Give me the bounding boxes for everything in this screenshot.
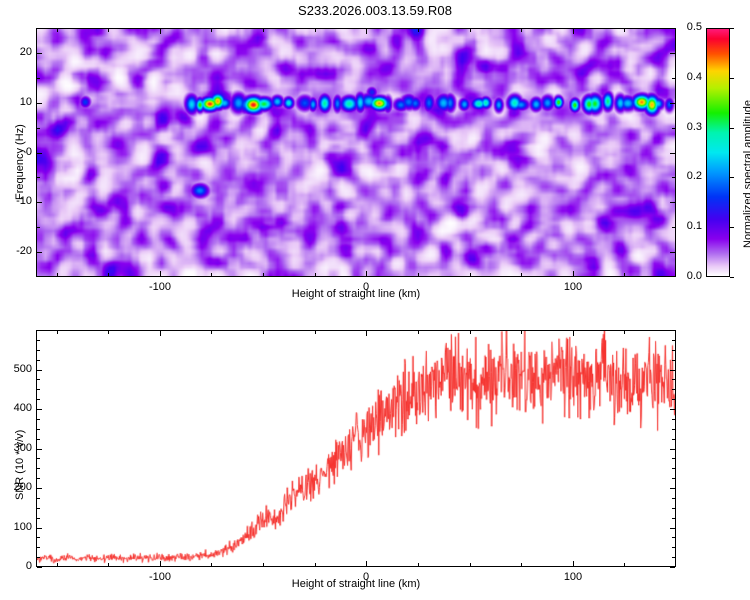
axis-tick bbox=[37, 379, 40, 380]
axis-tick-label: 10 bbox=[2, 96, 32, 108]
spectrogram-xlabel: Height of straight line (km) bbox=[36, 288, 676, 300]
axis-tick bbox=[672, 547, 675, 548]
axis-tick bbox=[37, 488, 42, 489]
axis-tick bbox=[37, 508, 40, 509]
axis-tick bbox=[670, 488, 675, 489]
axis-tick bbox=[418, 273, 419, 276]
axis-tick bbox=[672, 468, 675, 469]
axis-tick bbox=[470, 563, 471, 566]
axis-tick bbox=[263, 29, 264, 32]
axis-tick bbox=[672, 429, 675, 430]
axis-tick bbox=[37, 518, 40, 519]
axis-tick bbox=[160, 29, 161, 34]
axis-tick bbox=[108, 563, 109, 566]
axis-tick bbox=[366, 331, 367, 336]
axis-tick bbox=[37, 389, 40, 390]
axis-tick bbox=[521, 29, 522, 32]
axis-tick-label: 100 bbox=[2, 521, 32, 533]
axis-tick bbox=[315, 563, 316, 566]
axis-tick bbox=[211, 273, 212, 276]
axis-tick bbox=[672, 128, 675, 129]
axis-tick bbox=[37, 528, 42, 529]
axis-tick bbox=[37, 468, 40, 469]
axis-tick bbox=[670, 528, 675, 529]
axis-tick bbox=[37, 350, 40, 351]
axis-tick bbox=[670, 252, 675, 253]
axis-tick bbox=[160, 271, 161, 276]
spectrogram-panel bbox=[36, 28, 676, 277]
colorbar-tick bbox=[730, 277, 734, 278]
axis-tick bbox=[37, 557, 40, 558]
axis-tick bbox=[37, 458, 40, 459]
axis-tick bbox=[263, 563, 264, 566]
axis-tick bbox=[37, 78, 40, 79]
axis-tick bbox=[672, 478, 675, 479]
axis-tick bbox=[521, 273, 522, 276]
axis-tick bbox=[263, 331, 264, 334]
axis-tick bbox=[418, 331, 419, 334]
axis-tick bbox=[470, 273, 471, 276]
axis-tick bbox=[211, 331, 212, 334]
axis-tick bbox=[672, 518, 675, 519]
axis-tick bbox=[672, 78, 675, 79]
snr-ylabel: SNR (10 * v/v) bbox=[14, 430, 26, 500]
axis-tick bbox=[670, 567, 675, 568]
axis-tick bbox=[366, 561, 367, 566]
axis-tick bbox=[418, 563, 419, 566]
axis-tick bbox=[37, 537, 40, 538]
axis-tick bbox=[672, 389, 675, 390]
axis-tick bbox=[108, 273, 109, 276]
figure-canvas: S233.2026.003.13.59.R08 20100-10-20-1000… bbox=[0, 0, 750, 600]
axis-tick bbox=[470, 331, 471, 334]
axis-tick-label: 400 bbox=[2, 402, 32, 414]
axis-tick bbox=[672, 458, 675, 459]
axis-tick bbox=[366, 29, 367, 34]
axis-tick bbox=[670, 202, 675, 203]
axis-tick bbox=[672, 557, 675, 558]
axis-tick bbox=[108, 29, 109, 32]
axis-tick bbox=[37, 567, 42, 568]
colorbar-tick bbox=[730, 128, 734, 129]
axis-tick bbox=[521, 563, 522, 566]
axis-tick bbox=[672, 227, 675, 228]
axis-tick bbox=[470, 29, 471, 32]
colorbar-tick-label: 0.0 bbox=[680, 270, 702, 282]
colorbar-tick bbox=[730, 177, 734, 178]
axis-tick bbox=[37, 439, 40, 440]
axis-tick bbox=[108, 331, 109, 334]
axis-tick bbox=[37, 360, 40, 361]
axis-tick bbox=[57, 563, 58, 566]
colorbar-title: Normalized spectral amplitude bbox=[742, 100, 750, 248]
snr-xlabel: Height of straight line (km) bbox=[36, 578, 676, 590]
axis-tick bbox=[670, 153, 675, 154]
axis-tick bbox=[315, 273, 316, 276]
axis-tick bbox=[672, 508, 675, 509]
axis-tick bbox=[37, 153, 42, 154]
axis-tick bbox=[670, 103, 675, 104]
axis-tick bbox=[521, 331, 522, 334]
colorbar-tick-label: 0.1 bbox=[680, 220, 702, 232]
axis-tick bbox=[57, 29, 58, 32]
axis-tick bbox=[160, 331, 161, 336]
axis-tick bbox=[670, 449, 675, 450]
axis-tick bbox=[37, 53, 42, 54]
axis-tick bbox=[37, 252, 42, 253]
axis-tick-label: -20 bbox=[2, 245, 32, 257]
axis-tick bbox=[37, 399, 40, 400]
axis-tick bbox=[211, 563, 212, 566]
axis-tick bbox=[573, 271, 574, 276]
axis-tick bbox=[573, 29, 574, 34]
axis-tick bbox=[57, 273, 58, 276]
axis-tick bbox=[672, 177, 675, 178]
axis-tick bbox=[37, 409, 42, 410]
axis-tick bbox=[573, 561, 574, 566]
snr-plot-line bbox=[37, 331, 675, 566]
axis-tick bbox=[672, 537, 675, 538]
snr-panel bbox=[36, 330, 676, 567]
axis-tick bbox=[670, 53, 675, 54]
axis-tick bbox=[672, 439, 675, 440]
axis-tick bbox=[37, 340, 40, 341]
axis-tick bbox=[160, 561, 161, 566]
axis-tick bbox=[418, 29, 419, 32]
axis-tick bbox=[315, 29, 316, 32]
axis-tick bbox=[37, 498, 40, 499]
axis-tick bbox=[211, 29, 212, 32]
axis-tick bbox=[315, 331, 316, 334]
colorbar-gradient bbox=[707, 29, 729, 276]
axis-tick bbox=[573, 331, 574, 336]
axis-tick bbox=[624, 29, 625, 32]
colorbar bbox=[706, 28, 730, 277]
axis-tick bbox=[263, 273, 264, 276]
axis-tick bbox=[672, 340, 675, 341]
axis-tick bbox=[366, 271, 367, 276]
axis-tick bbox=[624, 563, 625, 566]
colorbar-tick-label: 0.5 bbox=[680, 21, 702, 33]
axis-tick-label: 0 bbox=[2, 560, 32, 572]
spectrogram-image bbox=[37, 29, 675, 276]
colorbar-tick-label: 0.4 bbox=[680, 71, 702, 83]
axis-tick bbox=[37, 449, 42, 450]
axis-tick bbox=[672, 360, 675, 361]
axis-tick bbox=[37, 419, 40, 420]
axis-tick bbox=[37, 370, 42, 371]
axis-tick bbox=[37, 103, 42, 104]
axis-tick-label: 500 bbox=[2, 363, 32, 375]
axis-tick bbox=[37, 177, 40, 178]
axis-tick bbox=[37, 547, 40, 548]
axis-tick bbox=[37, 429, 40, 430]
axis-tick bbox=[672, 379, 675, 380]
axis-tick bbox=[37, 227, 40, 228]
colorbar-tick-label: 0.3 bbox=[680, 121, 702, 133]
colorbar-tick-label: 0.2 bbox=[680, 170, 702, 182]
colorbar-tick bbox=[730, 28, 734, 29]
spectrogram-ylabel: Frequency (Hz) bbox=[14, 124, 26, 200]
axis-tick bbox=[37, 478, 40, 479]
axis-tick bbox=[672, 350, 675, 351]
axis-tick bbox=[672, 419, 675, 420]
axis-tick bbox=[57, 331, 58, 334]
axis-tick bbox=[624, 331, 625, 334]
axis-tick-label: 20 bbox=[2, 46, 32, 58]
colorbar-tick bbox=[730, 78, 734, 79]
axis-tick bbox=[37, 128, 40, 129]
figure-title: S233.2026.003.13.59.R08 bbox=[0, 3, 750, 18]
axis-tick bbox=[624, 273, 625, 276]
axis-tick bbox=[37, 202, 42, 203]
axis-tick bbox=[670, 370, 675, 371]
colorbar-tick bbox=[730, 227, 734, 228]
axis-tick bbox=[672, 498, 675, 499]
axis-tick bbox=[670, 409, 675, 410]
axis-tick bbox=[672, 399, 675, 400]
